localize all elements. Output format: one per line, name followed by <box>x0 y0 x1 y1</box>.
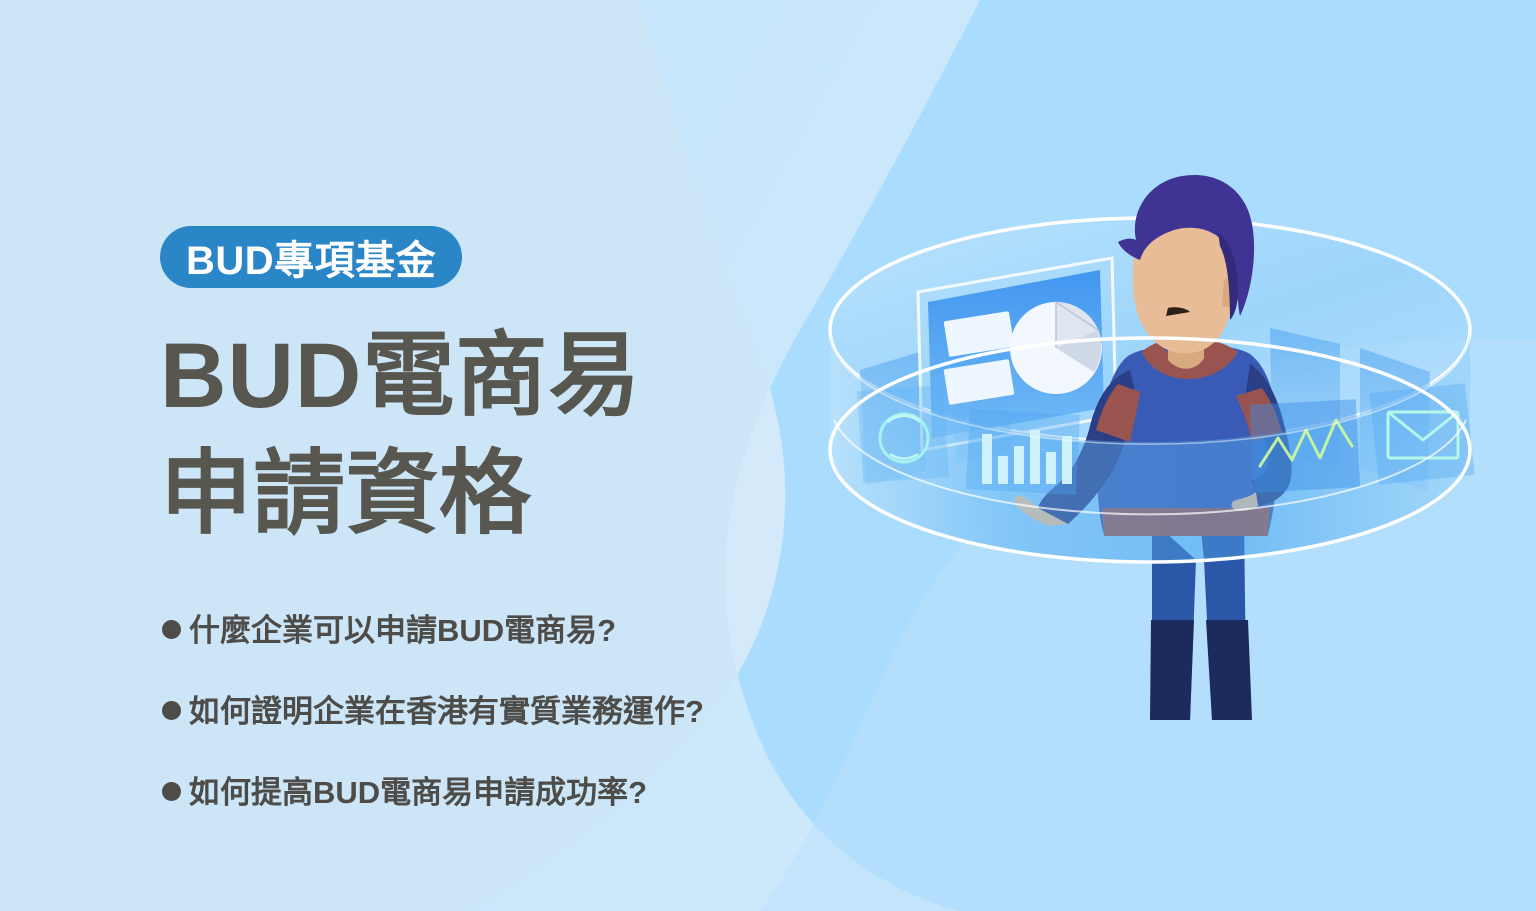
shoe-left <box>1150 620 1194 720</box>
question-list: 什麼企業可以申請BUD電商易? 如何證明企業在香港有實質業務運作? 如何提高BU… <box>162 612 862 812</box>
promotional-banner: BUD專項基金 BUD電商易 申請資格 什麼企業可以申請BUD電商易? 如何證明… <box>0 0 1536 911</box>
bullet-dot-icon <box>162 701 181 720</box>
bar-chart-icon <box>966 409 1080 495</box>
list-item: 如何提高BUD電商易申請成功率? <box>162 774 862 811</box>
list-item-label: 如何證明企業在香港有實質業務運作? <box>189 693 704 730</box>
illustration-svg <box>800 120 1500 760</box>
line-chart-icon <box>1250 399 1360 492</box>
page-title: BUD電商易 申請資格 <box>160 318 641 554</box>
list-item: 什麼企業可以申請BUD電商易? <box>162 612 862 649</box>
shoe-right <box>1206 620 1252 720</box>
list-item-label: 如何提高BUD電商易申請成功率? <box>189 774 647 811</box>
hero-illustration <box>800 120 1500 760</box>
page-title-line-2: 申請資格 <box>160 436 641 554</box>
page-title-line-1: BUD電商易 <box>160 318 641 436</box>
envelope-icon <box>1369 383 1474 485</box>
text-column: BUD專項基金 BUD電商易 申請資格 什麼企業可以申請BUD電商易? 如何證明… <box>160 0 880 911</box>
bullet-dot-icon <box>162 620 181 639</box>
fund-badge: BUD專項基金 <box>160 226 462 288</box>
list-item: 如何證明企業在香港有實質業務運作? <box>162 693 862 730</box>
bullet-dot-icon <box>162 782 181 801</box>
list-item-label: 什麼企業可以申請BUD電商易? <box>189 612 616 649</box>
